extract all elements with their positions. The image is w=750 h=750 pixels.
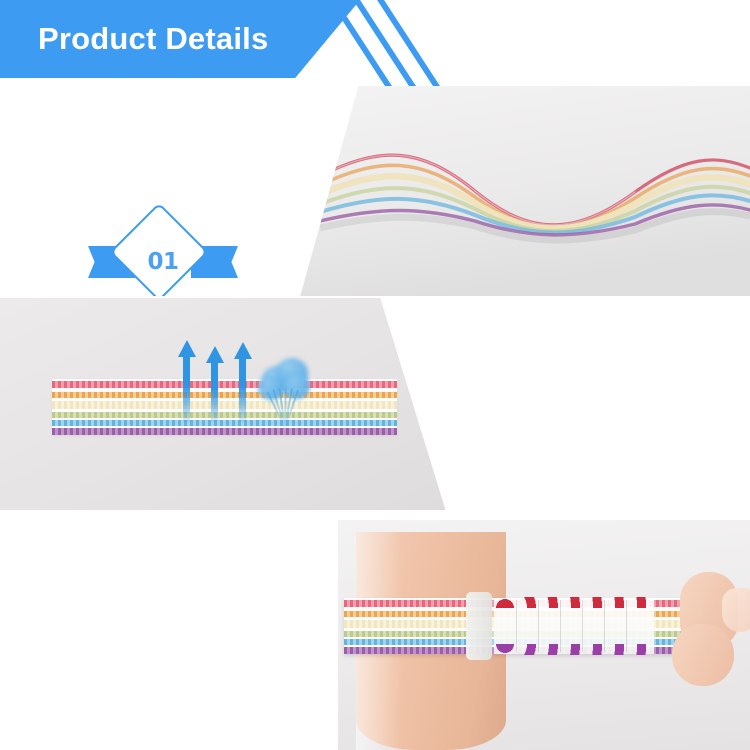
band-stripe-cream (52, 401, 397, 409)
panel-divider-1 (0, 296, 750, 298)
band-stripe-red (52, 381, 397, 388)
header: Product Details (0, 0, 750, 86)
badge-number: 01 (88, 246, 238, 278)
airflow-arrow-icon-2 (208, 346, 221, 422)
photo-breathable-band (0, 298, 450, 510)
twisted-band-illustration (285, 86, 750, 296)
panel-breathable: 02 breathable (0, 298, 750, 510)
fingernail (722, 588, 750, 632)
rainbow-velcro-band (344, 598, 692, 654)
panel-adjustable-velcro: 03 adjustable velcro (0, 512, 750, 750)
photo-velcro-on-arm (338, 520, 750, 750)
airflow-arrow-icon-3 (236, 342, 249, 422)
badge-diamond-01: 01 (88, 216, 238, 296)
band-stripe-blue (52, 420, 397, 426)
product-details-infographic: Product Details (0, 0, 750, 750)
band-stripe-purple (52, 428, 397, 435)
airflow-arrow-icon-1 (180, 340, 193, 422)
panel-soft: 01 soft (0, 86, 750, 296)
photo-twisted-band (285, 86, 750, 296)
velcro-hook-tab (466, 592, 492, 660)
twisted-band-svg (285, 86, 750, 296)
hand-fingers (650, 572, 746, 692)
band-stripe-green (52, 412, 397, 418)
scallop-edge-top (494, 597, 654, 608)
panel-divider-2 (0, 510, 750, 512)
puff-rays-icon (262, 386, 306, 428)
rainbow-band (52, 379, 397, 435)
band-stripe-orange (52, 392, 397, 398)
scallop-edge-bottom (494, 644, 654, 655)
feature-badge-soft: 01 soft (88, 216, 238, 296)
page-title: Product Details (38, 20, 268, 58)
